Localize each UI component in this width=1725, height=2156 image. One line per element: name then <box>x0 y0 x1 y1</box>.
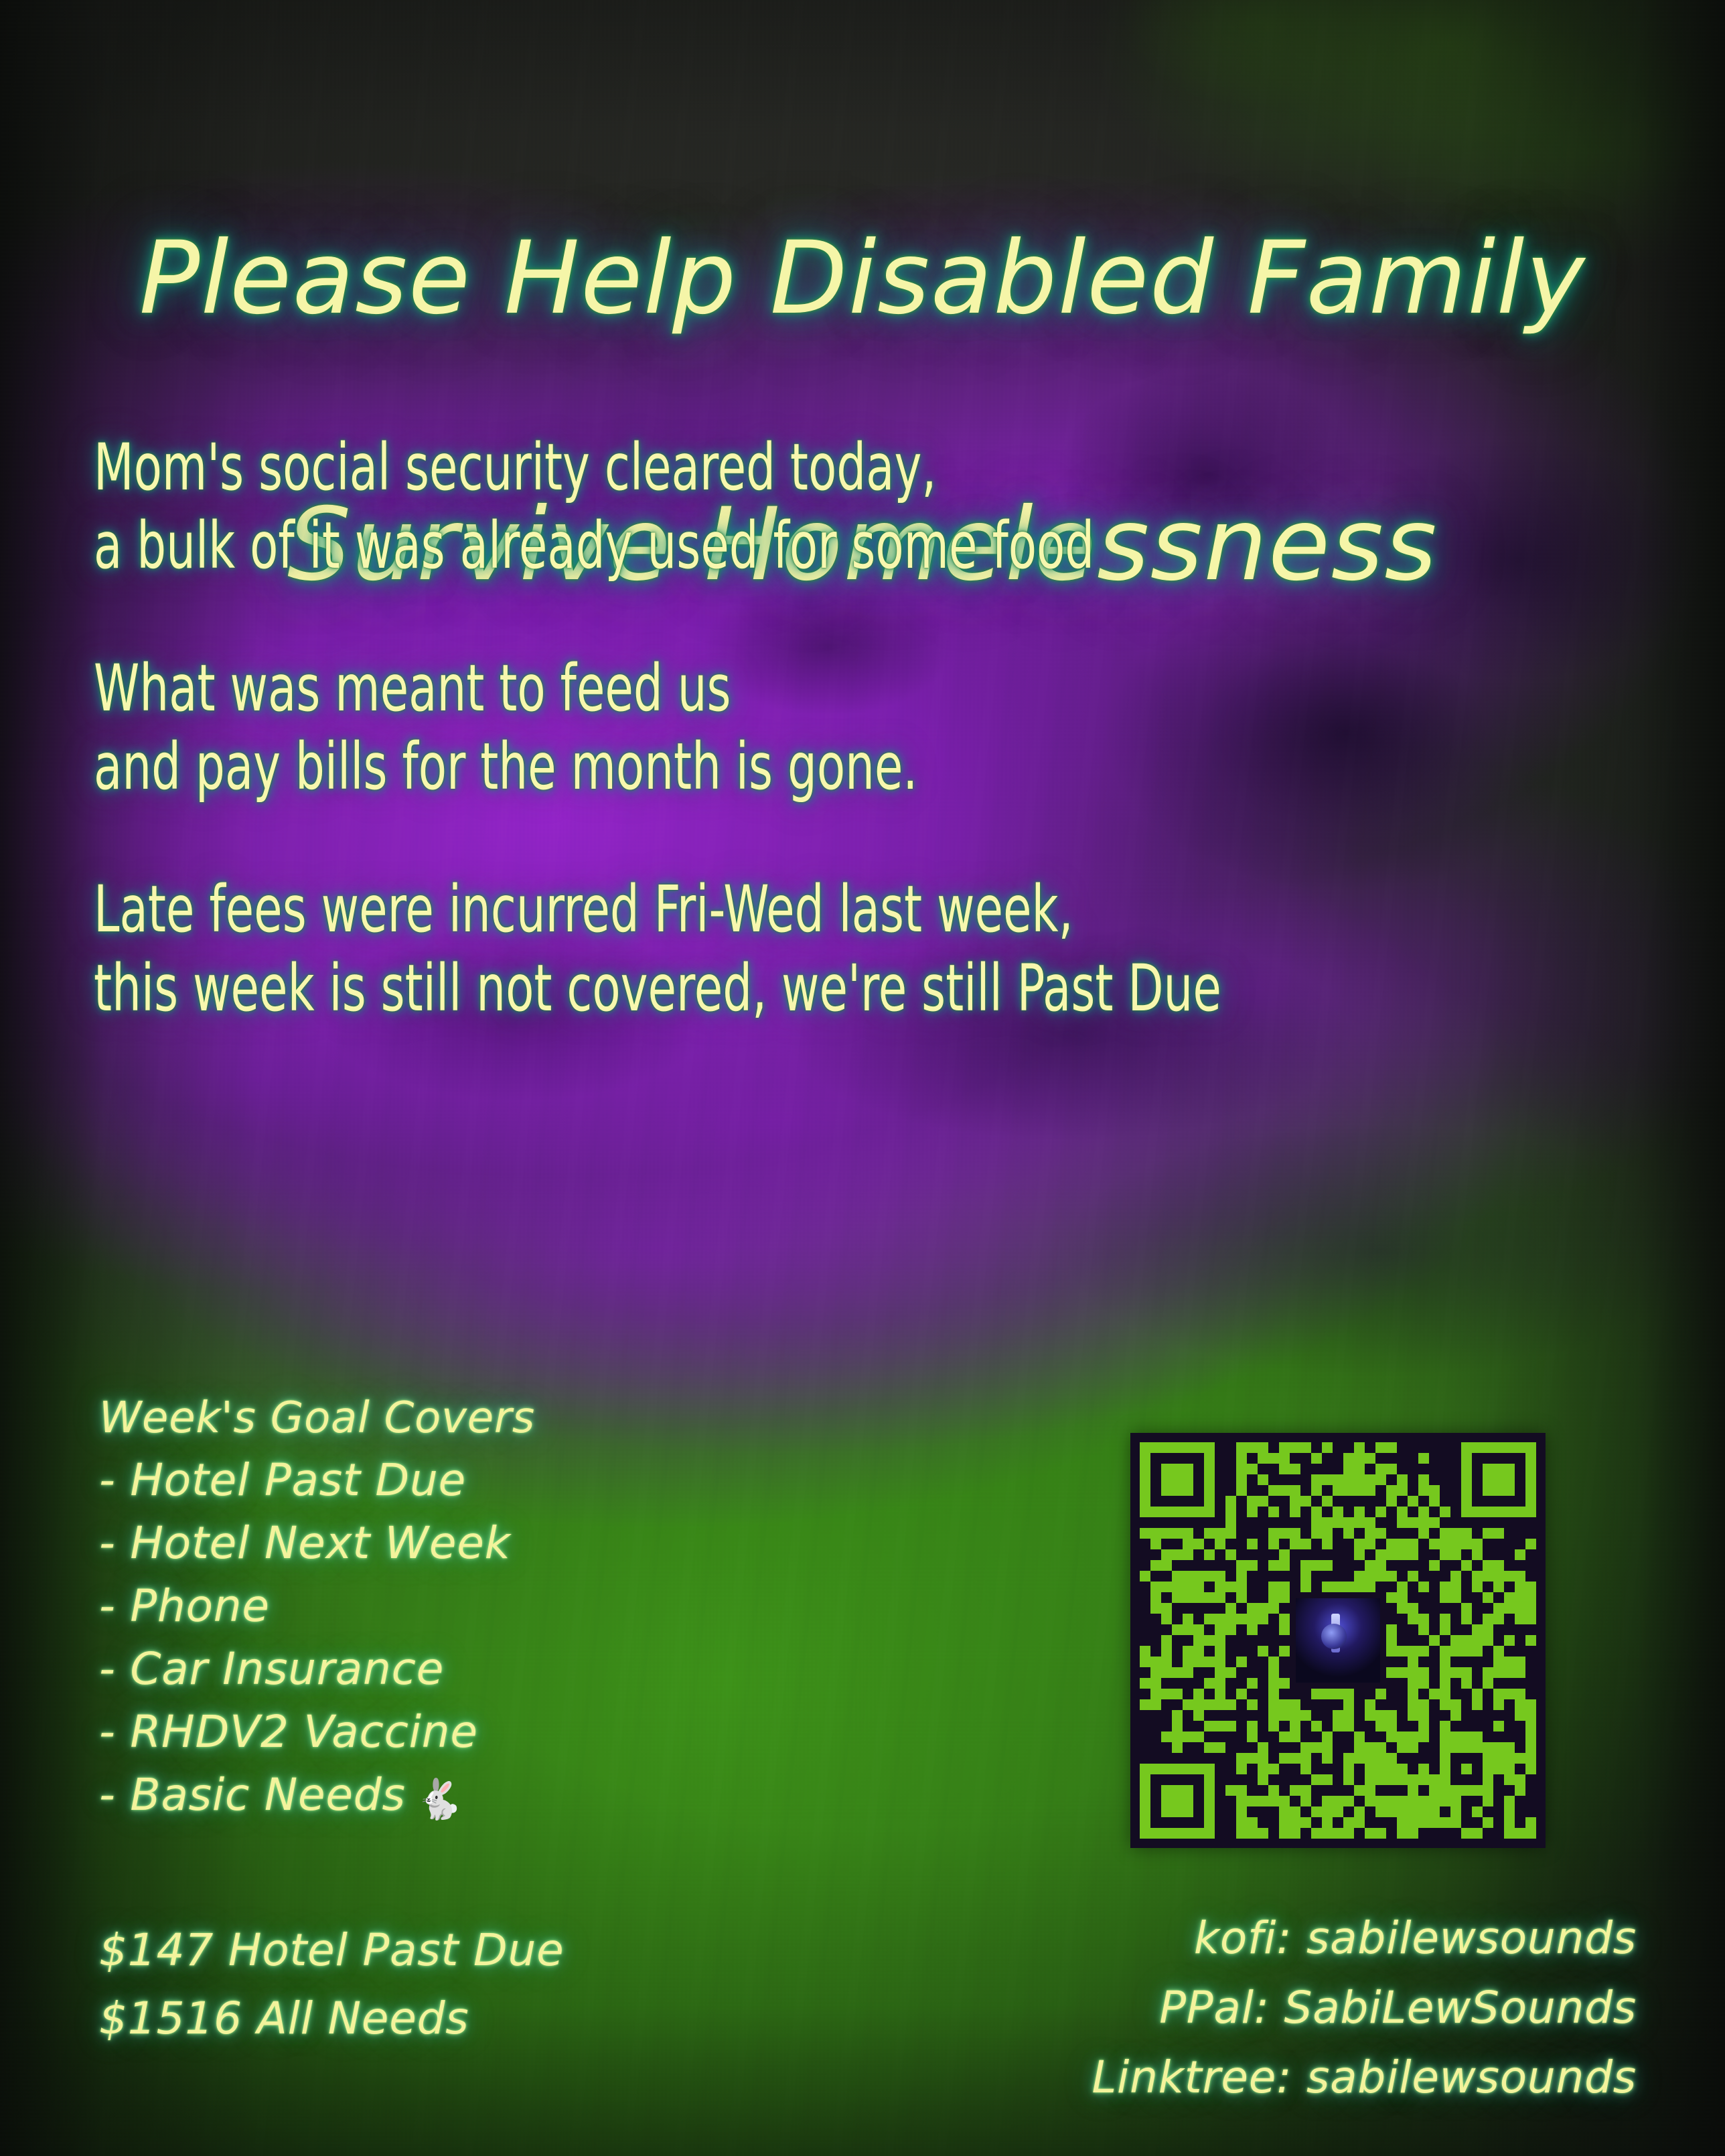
title-line-1: Please Help Disabled Family <box>0 210 1725 348</box>
weeks-goal-list: Week's Goal Covers - Hotel Past Due - Ho… <box>99 1397 836 1819</box>
poster-canvas: Please Help Disabled Family Survive Home… <box>0 0 1725 2156</box>
goal-list-item: - RHDV2 Vaccine <box>99 1710 836 1754</box>
body-line: Mom's social security cleared today, <box>94 429 1379 507</box>
amounts-block: $147 Hotel Past Due $1516 All Needs <box>99 1928 836 2065</box>
body-line: and pay bills for the month is gone. <box>94 728 1379 806</box>
goal-list-item: - Car Insurance <box>99 1647 836 1691</box>
body-line: What was meant to feed us <box>94 649 1379 728</box>
contact-line-paypal[interactable]: PPal: SabiLewSounds <box>1092 1986 1637 2030</box>
goal-list-item: - Hotel Past Due <box>99 1458 836 1503</box>
goal-list-item-basic-needs: - Basic Needs🐇 <box>99 1773 836 1819</box>
donation-qr-code[interactable] <box>1130 1433 1546 1848</box>
amount-line-all-needs: $1516 All Needs <box>99 1997 836 2041</box>
poster-body-copy: Mom's social security cleared today, a b… <box>94 429 1701 1028</box>
goal-list-heading: Week's Goal Covers <box>99 1397 836 1440</box>
contact-line-linktree[interactable]: Linktree: sabilewsounds <box>1092 2056 1637 2100</box>
poster-content: Please Help Disabled Family Survive Home… <box>0 0 1725 2156</box>
body-paragraph-2: What was meant to feed us and pay bills … <box>94 649 1701 806</box>
amount-line-past-due: $147 Hotel Past Due <box>99 1928 836 1973</box>
contact-line-kofi[interactable]: kofi: sabilewsounds <box>1092 1916 1637 1960</box>
goal-list-item: - Phone <box>99 1584 836 1628</box>
body-paragraph-3: Late fees were incurred Fri-Wed last wee… <box>94 870 1701 1027</box>
body-line: this week is still not covered, we're st… <box>94 949 1379 1028</box>
goal-list-item-label: - Basic Needs <box>99 1769 406 1821</box>
contact-handles-block: kofi: sabilewsounds PPal: SabiLewSounds … <box>1092 1916 1637 2100</box>
body-line: Late fees were incurred Fri-Wed last wee… <box>94 870 1379 949</box>
body-paragraph-1: Mom's social security cleared today, a b… <box>94 429 1701 585</box>
rabbit-icon: 🐇 <box>415 1776 464 1822</box>
body-line: a bulk of it was already used for some f… <box>94 507 1379 585</box>
qr-center-logo-image <box>1296 1598 1380 1683</box>
goal-list-item: - Hotel Next Week <box>99 1521 836 1565</box>
